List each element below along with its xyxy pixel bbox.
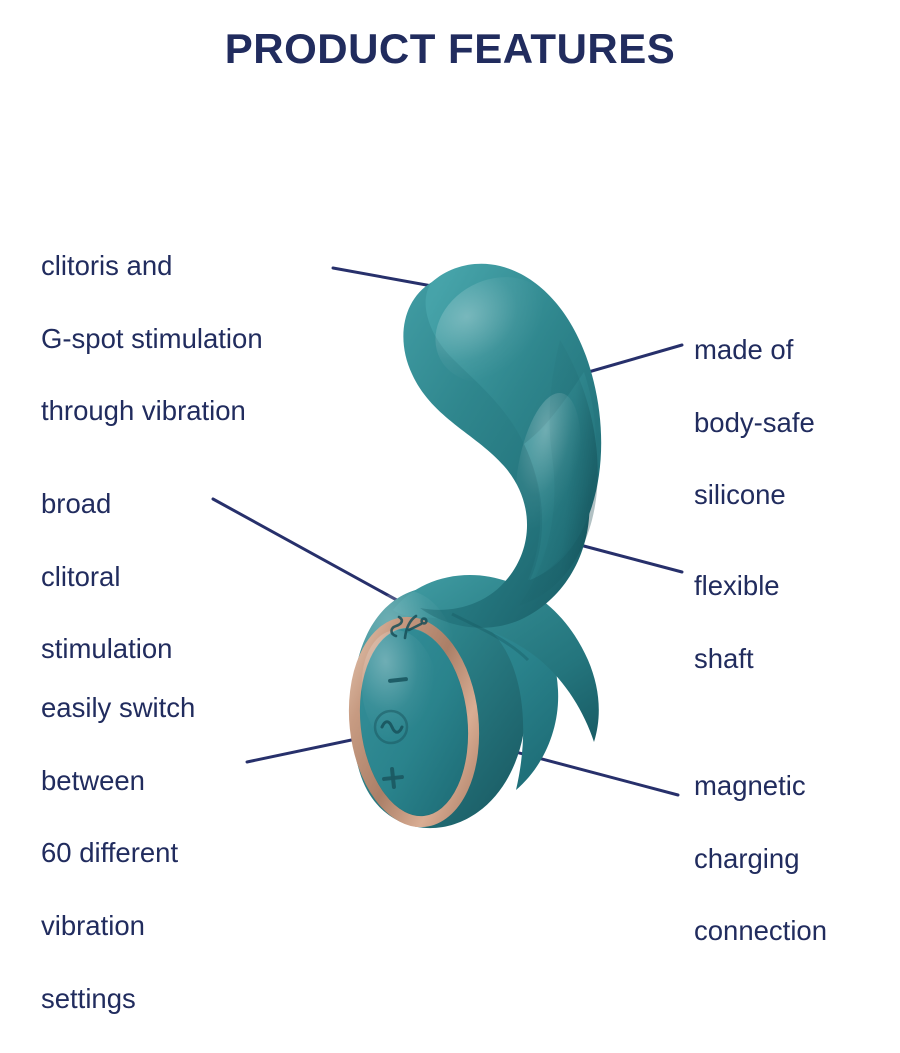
- callout-line: shaft: [694, 641, 894, 677]
- callout-line: through vibration: [41, 393, 361, 429]
- callout-line: clitoris and: [41, 248, 361, 284]
- callout-line: settings: [41, 981, 301, 1017]
- callout-line: easily switch: [41, 690, 301, 726]
- callout-flexible-shaft: flexible shaft: [694, 532, 894, 713]
- infographic-page: PRODUCT FEATURES: [0, 0, 900, 900]
- callout-body-safe-silicone: made of body-safe silicone: [694, 296, 894, 550]
- leader-line-flexible: [580, 545, 682, 572]
- callout-line: clitoral: [41, 559, 271, 595]
- callout-line: between: [41, 763, 301, 799]
- callout-line: 60 different: [41, 835, 301, 871]
- callout-line: made of: [694, 332, 894, 368]
- callout-line: G-spot stimulation: [41, 321, 361, 357]
- callout-clitoris-gspot-stimulation: clitoris and G-spot stimulation through …: [41, 212, 361, 466]
- callout-line: charging: [694, 841, 900, 877]
- callout-line: broad: [41, 486, 271, 522]
- callout-line: silicone: [694, 477, 894, 513]
- callout-line: vibration: [41, 908, 301, 944]
- callout-line: flexible: [694, 568, 894, 604]
- callout-magnetic-charging-connection: magnetic charging connection: [694, 732, 900, 986]
- callout-vibration-settings: easily switch between 60 different vibra…: [41, 654, 301, 1053]
- callout-line: connection: [694, 913, 900, 949]
- callout-line: body-safe: [694, 405, 894, 441]
- callout-line: magnetic: [694, 768, 900, 804]
- leader-line-silicone: [578, 345, 682, 375]
